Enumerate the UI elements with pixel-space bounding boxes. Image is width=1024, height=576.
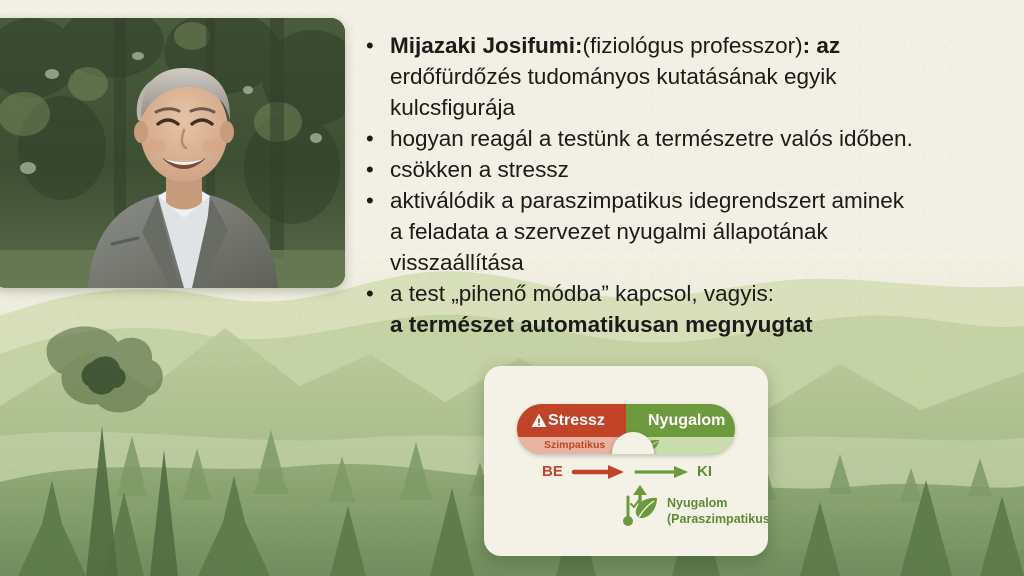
bullet-text: erdőfürdőzés tudományos kutatásának egyi… (390, 61, 1006, 92)
bullet-text: hogyan reagál a testünk a természetre va… (390, 123, 1006, 154)
bullet-text: a test „pihenő módba” kapcsol, vagyis: (390, 278, 1006, 309)
bullet-text: kulcsfigurája (390, 92, 1006, 123)
bullet-text: a természet automatikusan megnyugtat (390, 309, 1006, 340)
bullet-text-normal: erdőfürdőzés tudományos kutatásának egyi… (390, 64, 837, 89)
warning-triangle-icon (531, 413, 547, 428)
bullet-dot-icon: • (366, 185, 390, 216)
bullet-text: csökken a stressz (390, 154, 1006, 185)
bullet-continuation-line: visszaállítása (366, 247, 1006, 278)
bullet-item: •hogyan reagál a testünk a természetre v… (366, 123, 1006, 154)
portrait-photo (0, 18, 345, 288)
bullet-dot-icon: • (366, 30, 390, 61)
thermometer-leaf-icon (619, 494, 663, 528)
bullet-item: •Mijazaki Josifumi:(fiziológus professzo… (366, 30, 1006, 61)
bullet-item: •csökken a stressz (366, 154, 1006, 185)
bullet-text: visszaállítása (390, 247, 1006, 278)
legend-text: Nyugalom (Paraszimpatikus) (667, 495, 768, 527)
flow-arrows-icon (484, 456, 768, 494)
bullet-text: Mijazaki Josifumi:(fiziológus professzor… (390, 30, 1006, 61)
bullet-item: •a test „pihenő módba” kapcsol, vagyis: (366, 278, 1006, 309)
toggle-stress-label: Stressz (548, 410, 605, 431)
toggle-calm-label: Nyugalom (648, 410, 725, 431)
bullet-text-normal: (fiziológus professzor) (583, 33, 803, 58)
bullet-text-normal: a feladata a szervezet nyugalmi állapotá… (390, 219, 828, 244)
bullet-continuation-line: a természet automatikusan megnyugtat (366, 309, 1006, 340)
legend-line-1: Nyugalom (667, 496, 727, 510)
bullet-text-bold: : az (803, 33, 841, 58)
stress-calm-diagram-card: Stressz Szimpatikus Nyugalom BE KI (484, 366, 768, 556)
bullet-list: •Mijazaki Josifumi:(fiziológus professzo… (366, 30, 1006, 340)
bullet-text-normal: visszaállítása (390, 250, 524, 275)
bullet-text-normal: a test „pihenő módba” kapcsol, vagyis: (390, 281, 774, 306)
bullet-item: •aktiválódik a paraszimpatikus idegrends… (366, 185, 1006, 216)
bullet-continuation-line: erdőfürdőzés tudományos kutatásának egyi… (366, 61, 1006, 92)
bullet-text: aktiválódik a paraszimpatikus idegrendsz… (390, 185, 1006, 216)
toggle-stress-side: Stressz Szimpatikus (517, 404, 626, 454)
bullet-dot-icon: • (366, 123, 390, 154)
stress-calm-toggle[interactable]: Stressz Szimpatikus Nyugalom (517, 404, 735, 454)
bullet-text-normal: aktiválódik a paraszimpatikus idegrendsz… (390, 188, 904, 213)
bullet-text-normal: hogyan reagál a testünk a természetre va… (390, 126, 913, 151)
bullet-text-normal: kulcsfigurája (390, 95, 515, 120)
bullet-text-bold: Mijazaki Josifumi: (390, 33, 583, 58)
bullet-text-normal: csökken a stressz (390, 157, 569, 182)
bullet-continuation-line: kulcsfigurája (366, 92, 1006, 123)
slide: •Mijazaki Josifumi:(fiziológus professzo… (0, 0, 1024, 576)
bullet-text-bold: a természet automatikusan megnyugtat (390, 312, 813, 337)
flow-row: BE KI (484, 456, 768, 494)
bullet-text: a feladata a szervezet nyugalmi állapotá… (390, 216, 1006, 247)
legend-line-2: (Paraszimpatikus) (667, 512, 768, 526)
toggle-stress-sublabel: Szimpatikus (544, 438, 605, 453)
bullet-dot-icon: • (366, 278, 390, 309)
bullet-dot-icon: • (366, 154, 390, 185)
bullet-continuation-line: a feladata a szervezet nyugalmi állapotá… (366, 216, 1006, 247)
